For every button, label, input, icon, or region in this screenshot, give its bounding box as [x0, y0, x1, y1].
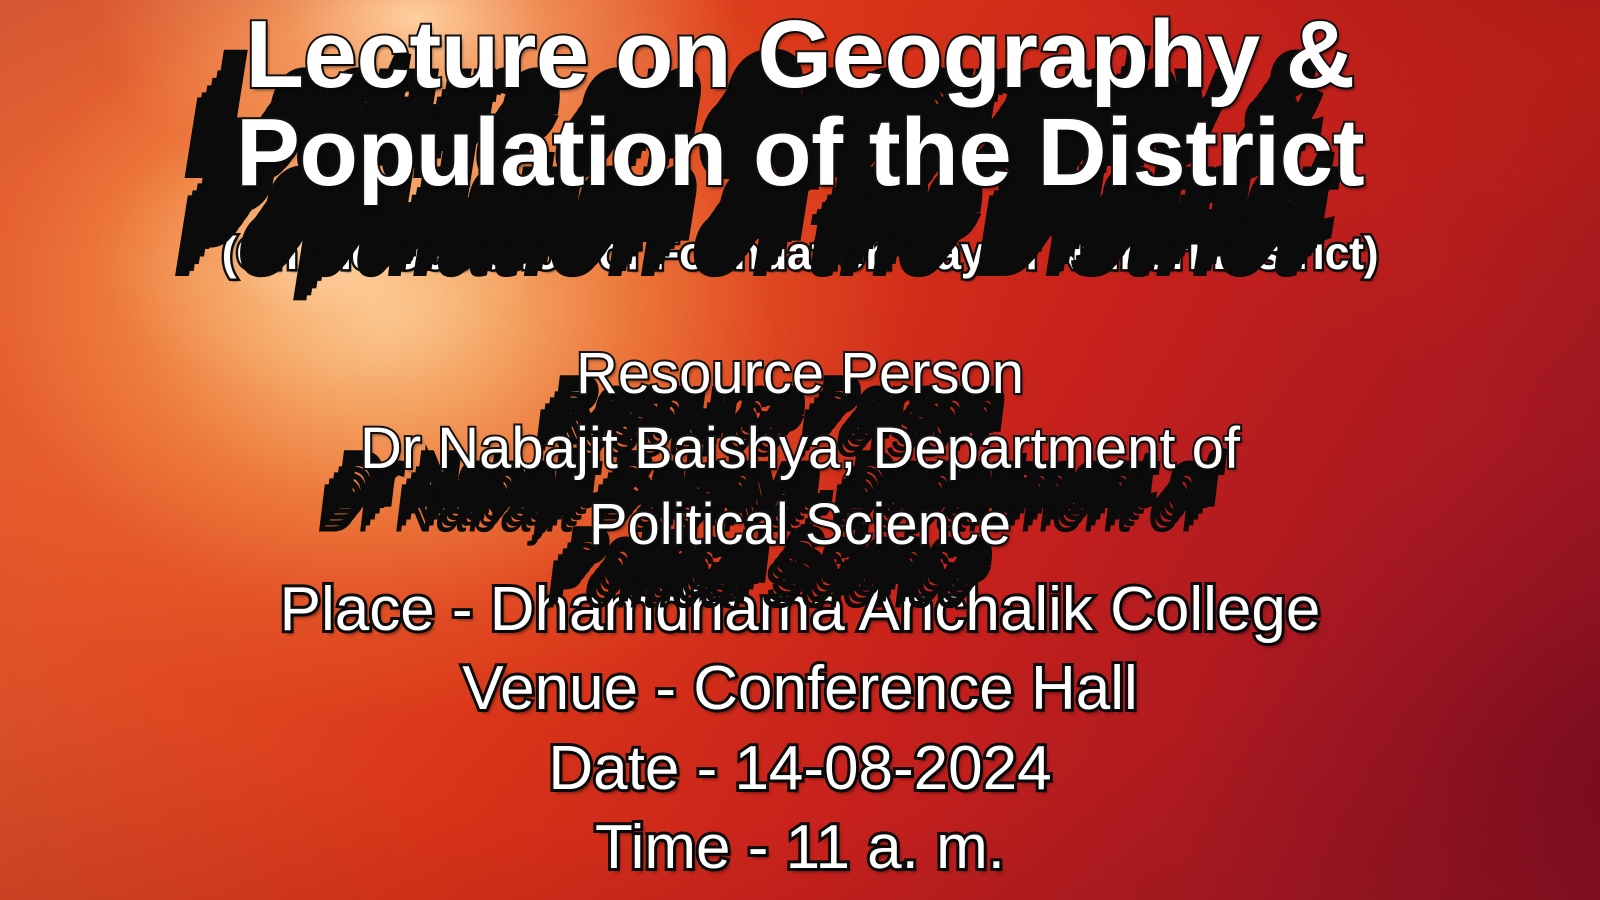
resource-person-line-1-text: Resource Person: [576, 341, 1024, 406]
resource-person-line-1: Resource Person Resource Person: [0, 336, 1600, 411]
resource-person-line-2-text: Dr Nabajit Baishya, Department of: [360, 416, 1240, 481]
poster-canvas: Lecture on Geography & Lecture on Geogra…: [0, 0, 1600, 900]
detail-venue: Venue - Conference Hall: [0, 649, 1600, 728]
resource-person-block: Resource Person Resource Person Dr Nabaj…: [0, 336, 1600, 562]
title-line-2-text: Population of the District: [236, 99, 1364, 206]
poster-content: Lecture on Geography & Lecture on Geogra…: [0, 0, 1600, 900]
title-line-1-text: Lecture on Geography &: [245, 1, 1354, 108]
title-line-1: Lecture on Geography & Lecture on Geogra…: [0, 6, 1600, 104]
detail-date: Date - 14-08-2024: [0, 729, 1600, 808]
title-line-2: Population of the District Population of…: [0, 104, 1600, 202]
poster-title: Lecture on Geography & Lecture on Geogra…: [0, 6, 1600, 202]
resource-person-line-3-text: Political Science: [589, 492, 1011, 557]
detail-time: Time - 11 a. m.: [0, 808, 1600, 887]
event-details-block: Place - Dhamdhama Anchalik College Venue…: [0, 570, 1600, 887]
